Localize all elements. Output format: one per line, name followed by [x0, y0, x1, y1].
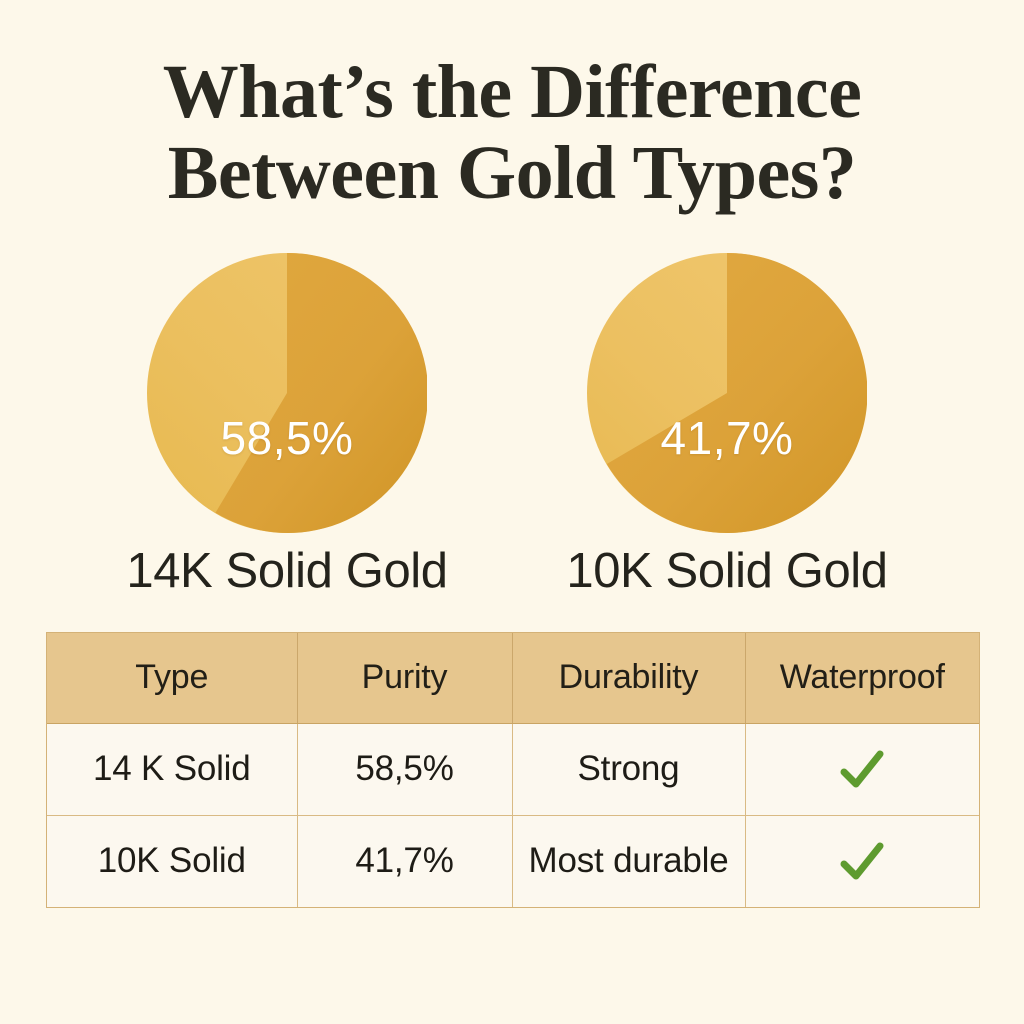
pie-chart-14k: 58,5% [147, 253, 427, 533]
cell-waterproof-14k [745, 723, 979, 815]
page-title-line-1: What’s the Difference [0, 52, 1024, 133]
cell-durability-14k: Strong [512, 723, 745, 815]
table-header-purity: Purity [297, 633, 512, 723]
check-icon [840, 750, 884, 790]
cell-waterproof-10k [745, 815, 979, 907]
table-header-type: Type [47, 633, 297, 723]
cell-purity-10k: 41,7% [297, 815, 512, 907]
table-header-row: Type Purity Durability Waterproof [47, 633, 979, 723]
cell-type-10k: 10K Solid [47, 815, 297, 907]
comparison-table-frame: Type Purity Durability Waterproof 14 K S… [46, 632, 980, 908]
cell-durability-10k: Most durable [512, 815, 745, 907]
pie-caption-group: 14K Solid Gold 10K Solid Gold [0, 543, 1024, 605]
pie-chart-group: 58,5% [0, 253, 1024, 533]
cell-purity-14k: 58,5% [297, 723, 512, 815]
gold-types-infographic: What’s the Difference Between Gold Types… [0, 0, 1024, 1024]
pie-10k-value-label: 41,7% [587, 411, 867, 465]
pie-chart-10k-graphic [587, 253, 867, 533]
pie-chart-10k: 41,7% [587, 253, 867, 533]
pie-caption-10k: 10K Solid Gold [517, 543, 937, 599]
check-icon [840, 842, 884, 882]
cell-type-14k: 14 K Solid [47, 723, 297, 815]
page-title-line-2: Between Gold Types? [0, 133, 1024, 214]
comparison-table: Type Purity Durability Waterproof 14 K S… [47, 633, 979, 907]
page-title: What’s the Difference Between Gold Types… [0, 52, 1024, 215]
table-row: 14 K Solid 58,5% Strong [47, 723, 979, 815]
table-header-waterproof: Waterproof [745, 633, 979, 723]
pie-caption-14k: 14K Solid Gold [77, 543, 497, 599]
table-row: 10K Solid 41,7% Most durable [47, 815, 979, 907]
table-header-durability: Durability [512, 633, 745, 723]
pie-14k-value-label: 58,5% [147, 411, 427, 465]
pie-chart-14k-graphic [147, 253, 427, 533]
